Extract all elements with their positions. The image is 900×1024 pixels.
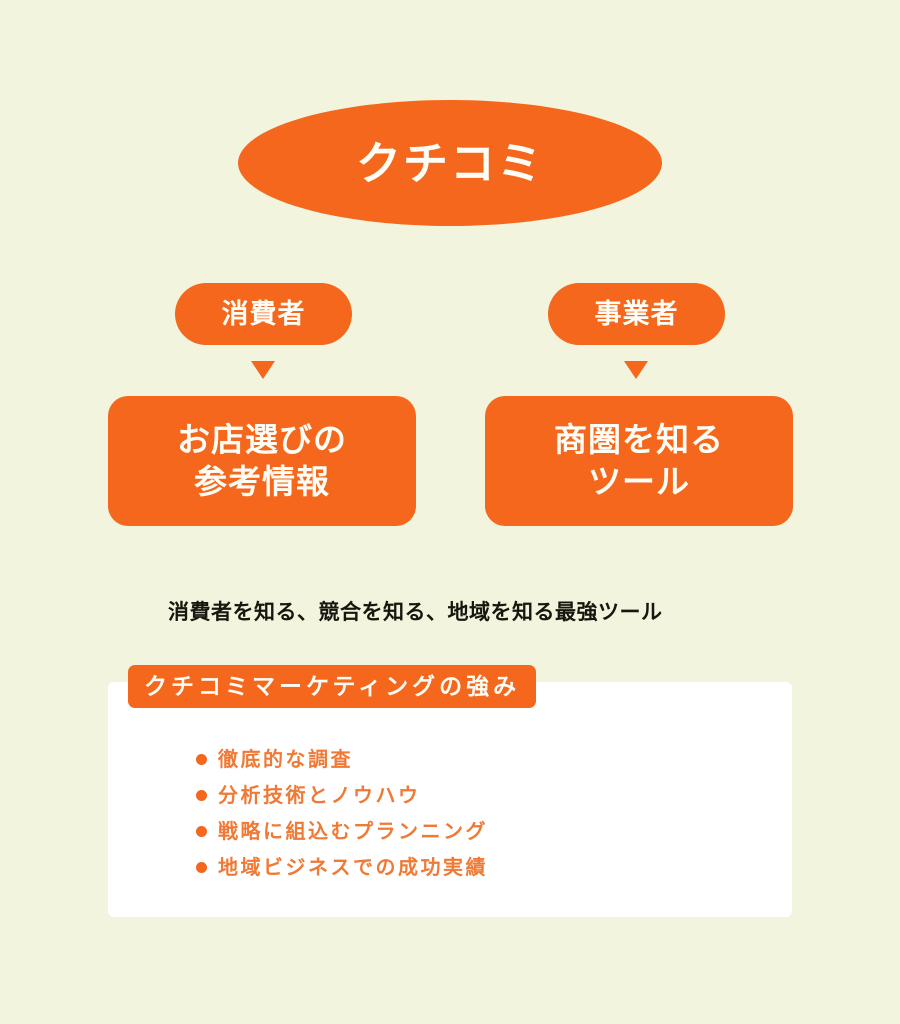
outcome-consumer-line1: お店選びの bbox=[177, 421, 347, 458]
branch-pill-consumer: 消費者 bbox=[175, 283, 352, 345]
list-item: 分析技術とノウハウ bbox=[196, 778, 488, 813]
strengths-panel-banner-label: クチコミマーケティングの強み bbox=[144, 675, 520, 698]
bullet-dot-icon bbox=[196, 754, 207, 765]
list-item-label: 戦略に組込むプランニング bbox=[218, 822, 488, 842]
outcome-box-consumer-label: お店選びの 参考情報 bbox=[177, 419, 347, 503]
branch-pill-business-label: 事業者 bbox=[595, 301, 679, 328]
bullet-dot-icon bbox=[196, 826, 207, 837]
list-item-label: 徹底的な調査 bbox=[218, 750, 353, 770]
infographic-canvas: クチコミ 消費者 お店選びの 参考情報 事業者 商圏を知る ツール 消費者を知る… bbox=[0, 0, 900, 1024]
list-item: 徹底的な調査 bbox=[196, 742, 488, 777]
tagline: 消費者を知る、競合を知る、地域を知る最強ツール bbox=[168, 596, 663, 626]
list-item: 戦略に組込むプランニング bbox=[196, 814, 488, 849]
outcome-box-consumer: お店選びの 参考情報 bbox=[108, 396, 416, 526]
hero-ellipse-label: クチコミ bbox=[356, 141, 544, 186]
strengths-panel-banner: クチコミマーケティングの強み bbox=[128, 665, 536, 708]
list-item: 地域ビジネスでの成功実績 bbox=[196, 850, 488, 885]
list-item-label: 地域ビジネスでの成功実績 bbox=[218, 858, 488, 878]
bullet-dot-icon bbox=[196, 862, 207, 873]
outcome-box-business: 商圏を知る ツール bbox=[485, 396, 793, 526]
outcome-business-line1: 商圏を知る bbox=[554, 421, 724, 458]
bullet-dot-icon bbox=[196, 790, 207, 801]
strengths-list: 徹底的な調査 分析技術とノウハウ 戦略に組込むプランニング 地域ビジネスでの成功… bbox=[196, 742, 488, 886]
outcome-consumer-line2: 参考情報 bbox=[194, 463, 330, 500]
triangle-down-icon-consumer bbox=[251, 361, 275, 379]
triangle-down-icon-business bbox=[624, 361, 648, 379]
outcome-box-business-label: 商圏を知る ツール bbox=[554, 419, 724, 503]
branch-pill-consumer-label: 消費者 bbox=[222, 301, 306, 328]
branch-pill-business: 事業者 bbox=[548, 283, 725, 345]
outcome-business-line2: ツール bbox=[588, 463, 690, 500]
list-item-label: 分析技術とノウハウ bbox=[218, 786, 421, 806]
hero-ellipse: クチコミ bbox=[238, 100, 662, 226]
